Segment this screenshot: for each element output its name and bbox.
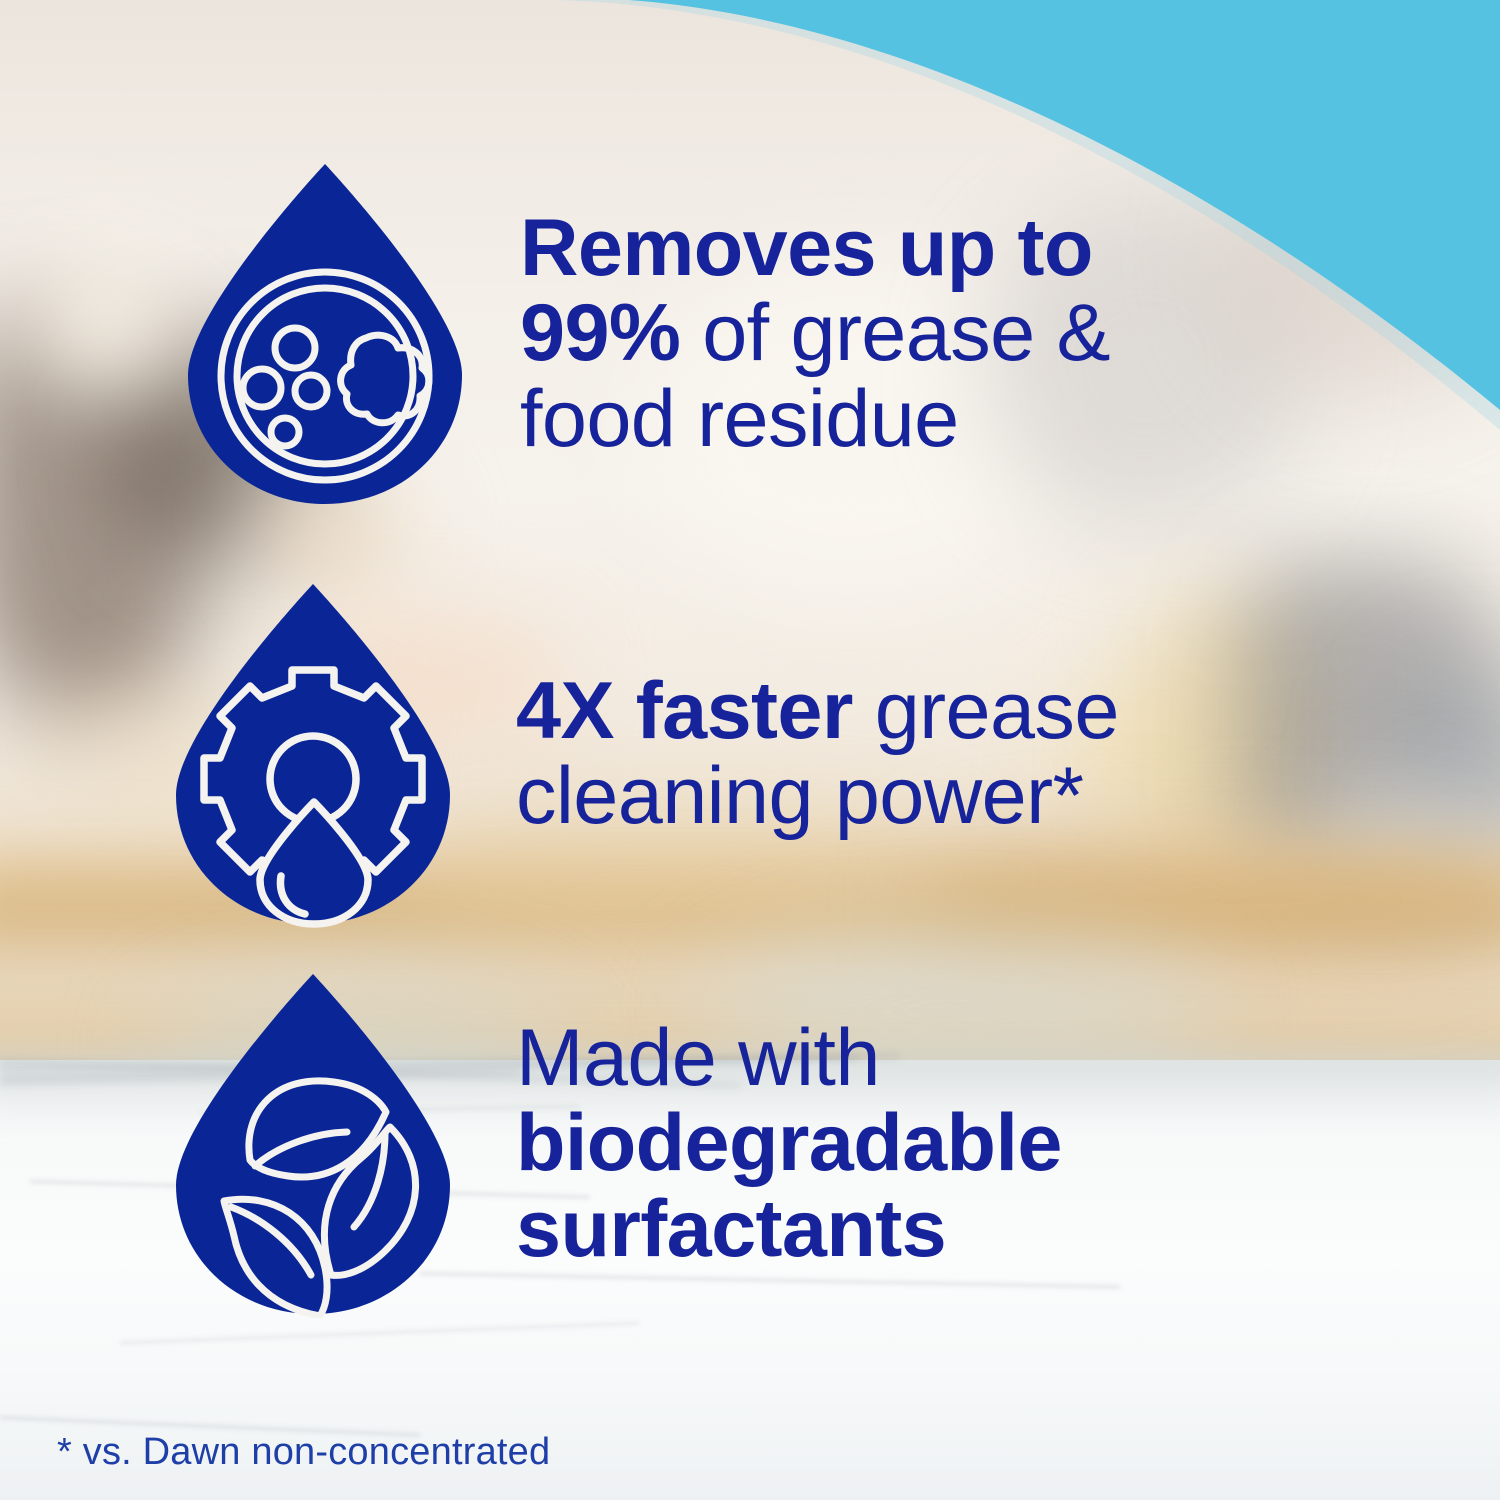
benefit-text: Removes up to 99% of grease & food resid… bbox=[520, 206, 1210, 461]
benefit-rest-text: biodegradable surfactants bbox=[516, 1098, 1062, 1273]
benefit-row: Removes up to 99% of grease & food resid… bbox=[180, 160, 1210, 508]
benefit-lead-text: Made with bbox=[516, 1013, 880, 1103]
benefit-row: 4X faster grease cleaning power* bbox=[168, 580, 1206, 928]
three-leaves-recycle-icon bbox=[168, 970, 458, 1318]
benefit-list: Removes up to 99% of grease & food resid… bbox=[0, 0, 1500, 1500]
droplet-shape bbox=[176, 974, 450, 1314]
benefit-text: Made with biodegradable surfactants bbox=[516, 1016, 1156, 1271]
benefit-lead-text: 4X faster bbox=[516, 666, 853, 756]
gear-with-droplet-icon bbox=[168, 580, 458, 928]
benefit-row: Made with biodegradable surfactants bbox=[168, 970, 1156, 1318]
benefit-text: 4X faster grease cleaning power* bbox=[516, 669, 1206, 839]
infographic-canvas: Removes up to 99% of grease & food resid… bbox=[0, 0, 1500, 1500]
footnote-disclaimer: * vs. Dawn non-concentrated bbox=[57, 1431, 550, 1474]
plate-with-bubbles-and-splat-icon bbox=[180, 160, 470, 508]
